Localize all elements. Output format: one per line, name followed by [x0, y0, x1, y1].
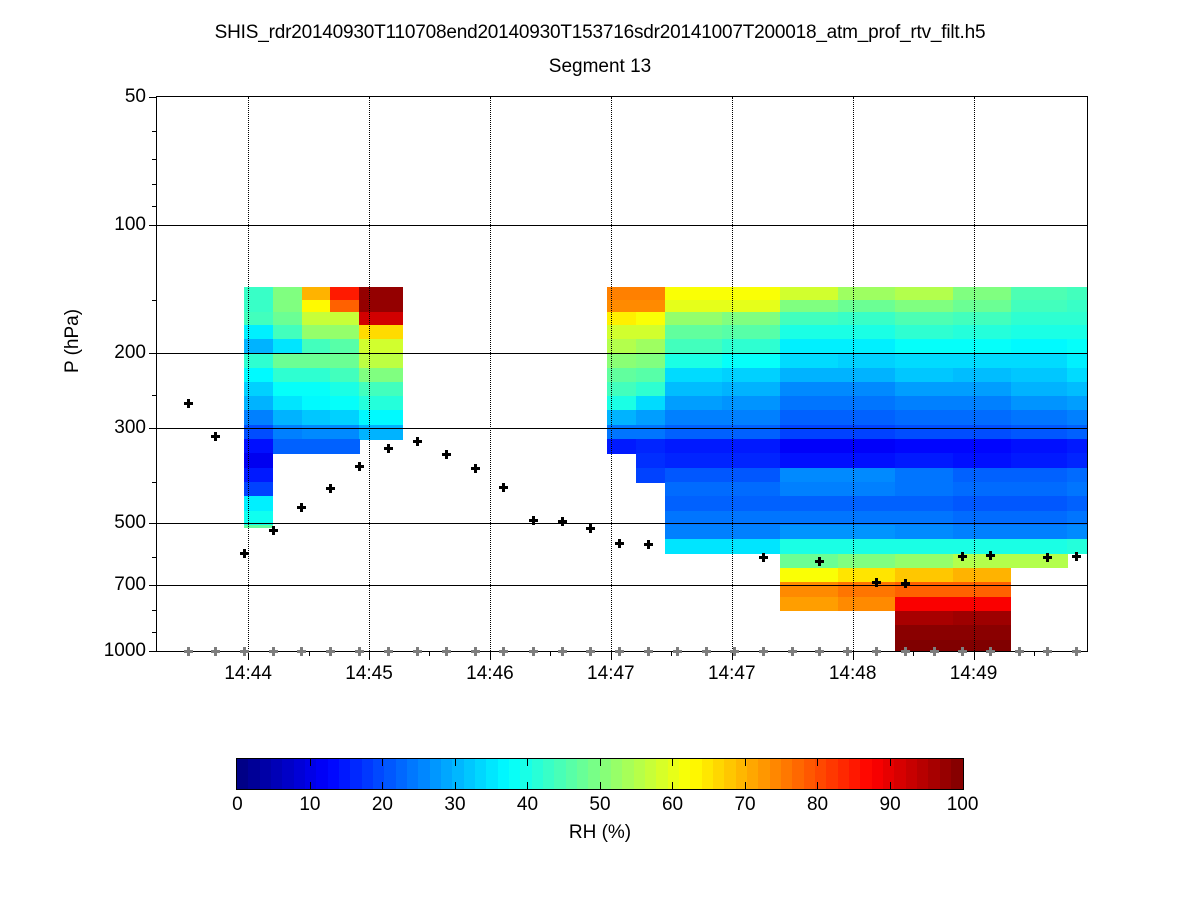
heatmap-cell	[895, 325, 953, 339]
colorbar-segment	[951, 759, 963, 789]
heatmap-cell	[273, 396, 302, 411]
heatmap-cell	[1011, 525, 1068, 540]
heatmap-cell	[838, 468, 896, 483]
heatmap-cell	[780, 468, 838, 483]
heatmap-cell	[895, 353, 953, 368]
colorbar-segment	[509, 759, 521, 789]
x-tick-minor	[671, 651, 672, 656]
heatmap-cell	[1011, 539, 1068, 554]
heatmap-cell	[953, 312, 1011, 326]
y-tick-label: 1000	[104, 640, 146, 662]
heatmap-cell	[780, 425, 838, 440]
heatmap-cell	[1067, 468, 1087, 483]
colorbar-tick-label: 40	[517, 794, 538, 816]
heatmap-cell	[1011, 439, 1068, 454]
colorbar-tick	[745, 782, 746, 789]
heatmap-cell	[273, 300, 302, 313]
colorbar-segment	[600, 759, 612, 789]
heatmap-cell	[953, 640, 1011, 651]
heatmap-cell	[1067, 453, 1087, 468]
x-gridline	[248, 97, 249, 651]
colorbar-segment	[350, 759, 362, 789]
x-tick	[732, 651, 733, 660]
heatmap-cell	[665, 382, 723, 397]
heatmap-cell	[780, 539, 838, 554]
colorbar-tick	[817, 782, 818, 789]
plot-axes: 50100200300500700100014:4414:4514:4614:4…	[156, 96, 1088, 652]
heatmap-cell	[302, 382, 331, 397]
heatmap-cell	[895, 554, 953, 569]
heatmap-cell	[273, 312, 302, 326]
heatmap-cell	[895, 468, 953, 483]
y-tick	[149, 585, 157, 586]
colorbar-segment	[475, 759, 487, 789]
x-tick-minor	[1034, 651, 1035, 656]
heatmap-cell	[838, 568, 896, 583]
colorbar-tick	[310, 759, 311, 766]
heatmap-cell	[1067, 325, 1087, 339]
colorbar-tick-label: 50	[589, 794, 610, 816]
colorbar-segment	[713, 759, 725, 789]
colorbar-segment	[362, 759, 374, 789]
x-tick	[490, 651, 491, 660]
colorbar-segment	[736, 759, 748, 789]
x-tick	[369, 651, 370, 660]
x-tick-label: 14:49	[950, 663, 998, 685]
colorbar-segment	[554, 759, 566, 789]
heatmap-cell	[895, 597, 953, 612]
x-tick-label: 14:44	[224, 663, 272, 685]
heatmap-cell	[953, 468, 1011, 483]
heatmap-cell	[953, 597, 1011, 612]
heatmap-cell	[838, 396, 896, 411]
heatmap-cell	[273, 339, 302, 354]
heatmap-cell	[359, 312, 403, 326]
heatmap-cell	[953, 300, 1011, 313]
colorbar-segment	[872, 759, 884, 789]
y-tick-minor	[152, 557, 157, 558]
heatmap-cell	[895, 368, 953, 383]
x-tick-label: 14:47	[708, 663, 756, 685]
y-tick	[149, 225, 157, 226]
y-tick-minor	[152, 206, 157, 207]
heatmap-cell	[359, 410, 403, 425]
heatmap-cell	[953, 611, 1011, 626]
heatmap-cell	[1011, 468, 1068, 483]
heatmap-cell	[665, 410, 723, 425]
colorbar-segment	[758, 759, 770, 789]
heatmap-cell	[273, 410, 302, 425]
heatmap-cell	[1011, 554, 1068, 569]
x-gridline	[974, 97, 975, 651]
colorbar-segment	[498, 759, 510, 789]
colorbar-segment	[940, 759, 952, 789]
heatmap-cell	[636, 410, 665, 425]
heatmap-cell	[1011, 300, 1068, 313]
heatmap-cell	[953, 525, 1011, 540]
heatmap-cell	[273, 325, 302, 339]
heatmap-cell	[665, 539, 723, 554]
heatmap-cell	[302, 287, 331, 300]
colorbar-tick-label: 100	[947, 794, 979, 816]
heatmap-cell	[665, 325, 723, 339]
y-tick-minor	[152, 482, 157, 483]
heatmap-cell	[302, 410, 331, 425]
heatmap-cell	[665, 312, 723, 326]
heatmap-cell	[359, 396, 403, 411]
x-tick-minor	[913, 651, 914, 656]
x-gridline	[369, 97, 370, 651]
heatmap-cell	[838, 496, 896, 511]
heatmap-cell	[838, 312, 896, 326]
heatmap-cell	[665, 496, 723, 511]
heatmap-cell	[273, 287, 302, 300]
colorbar-segment	[781, 759, 793, 789]
heatmap-cell	[359, 425, 403, 440]
heatmap-cell	[359, 382, 403, 397]
heatmap-cell	[636, 368, 665, 383]
heatmap-cell	[1011, 453, 1068, 468]
y-tick-label: 200	[114, 342, 146, 364]
x-gridline	[732, 97, 733, 651]
colorbar-segment	[248, 759, 260, 789]
colorbar-segment	[430, 759, 442, 789]
heatmap-cell	[636, 287, 665, 300]
colorbar-segment	[849, 759, 861, 789]
heatmap-cell	[780, 554, 838, 569]
heatmap-cell	[359, 353, 403, 368]
x-tick-label: 14:45	[345, 663, 393, 685]
heatmap-cell	[1011, 287, 1068, 300]
heatmap-cell	[838, 382, 896, 397]
heatmap-cell	[1067, 339, 1087, 354]
colorbar-segment	[396, 759, 408, 789]
heatmap-cell	[895, 496, 953, 511]
heatmap-cell	[359, 300, 403, 313]
heatmap-cell	[780, 496, 838, 511]
x-tick	[974, 651, 975, 660]
colorbar-segment	[668, 759, 680, 789]
heatmap-cell	[1067, 368, 1087, 383]
colorbar-segment	[543, 759, 555, 789]
colorbar-segment	[804, 759, 816, 789]
heatmap-cell	[665, 439, 723, 454]
x-tick-minor	[188, 651, 189, 656]
heatmap-cell	[953, 625, 1011, 640]
heatmap-cell	[1067, 425, 1087, 440]
y-tick	[149, 523, 157, 524]
colorbar-segment	[464, 759, 476, 789]
colorbar-gradient	[236, 758, 964, 790]
heatmap-cell	[330, 353, 359, 368]
colorbar-tick	[745, 759, 746, 766]
colorbar-tick-label: 20	[372, 794, 393, 816]
y-tick-minor	[152, 632, 157, 633]
heatmap-cell	[953, 554, 1011, 569]
x-tick-minor	[792, 651, 793, 656]
heatmap-cell	[665, 287, 723, 300]
colorbar-segment	[770, 759, 782, 789]
page-title: SHIS_rdr20140930T110708end20140930T15371…	[0, 22, 1200, 44]
heatmap-cell	[1011, 325, 1068, 339]
y-tick-minor	[152, 159, 157, 160]
heatmap-cell	[895, 287, 953, 300]
heatmap-cell	[636, 339, 665, 354]
heatmap-cell	[273, 425, 302, 440]
heatmap-cell	[780, 300, 838, 313]
heatmap-cell	[273, 382, 302, 397]
heatmap-cell	[780, 439, 838, 454]
heatmap-cell	[895, 300, 953, 313]
heatmap-cell	[953, 496, 1011, 511]
heatmap-cell	[780, 525, 838, 540]
y-tick-label: 300	[114, 417, 146, 439]
colorbar-tick	[382, 759, 383, 766]
heatmap-cell	[838, 410, 896, 425]
heatmap-cell	[953, 325, 1011, 339]
colorbar-segment	[271, 759, 283, 789]
heatmap-cell	[302, 353, 331, 368]
colorbar-tick	[890, 759, 891, 766]
heatmap-cell	[895, 439, 953, 454]
x-gridline	[611, 97, 612, 651]
colorbar-segment	[690, 759, 702, 789]
colorbar-tick	[527, 782, 528, 789]
heatmap-cell	[895, 568, 953, 583]
heatmap-cell	[838, 482, 896, 497]
heatmap-cell	[838, 287, 896, 300]
colorbar-segment	[917, 759, 929, 789]
heatmap-cell	[1011, 396, 1068, 411]
heatmap-cell	[895, 425, 953, 440]
x-tick-minor	[550, 651, 551, 656]
colorbar-tick-label: 10	[299, 794, 320, 816]
colorbar-segment	[656, 759, 668, 789]
heatmap-cell	[330, 287, 359, 300]
colorbar-segment	[316, 759, 328, 789]
colorbar-segment	[486, 759, 498, 789]
heatmap-cell	[665, 482, 723, 497]
heatmap-cell	[1067, 482, 1087, 497]
y-tick-minor	[152, 131, 157, 132]
heatmap-cell	[895, 539, 953, 554]
y-gridline	[157, 353, 1087, 354]
heatmap-cell	[1011, 339, 1068, 354]
heatmap-cell	[1067, 439, 1087, 454]
heatmap-cell	[665, 453, 723, 468]
heatmap-cell	[1011, 410, 1068, 425]
heatmap-cell	[665, 396, 723, 411]
figure-subtitle: Segment 13	[0, 56, 1200, 78]
heatmap-cell	[1011, 368, 1068, 383]
heatmap-surface	[157, 97, 1087, 651]
heatmap-cell	[330, 382, 359, 397]
x-gridline	[490, 97, 491, 651]
heatmap-cell	[780, 287, 838, 300]
heatmap-cell	[780, 325, 838, 339]
y-tick-minor	[152, 395, 157, 396]
y-tick	[149, 353, 157, 354]
heatmap-cell	[838, 339, 896, 354]
heatmap-cell	[273, 439, 302, 454]
y-tick-label: 100	[114, 214, 146, 236]
x-tick	[248, 651, 249, 660]
colorbar-tick	[455, 782, 456, 789]
colorbar-tick-label: 30	[444, 794, 465, 816]
heatmap-cell	[1011, 353, 1068, 368]
colorbar-tick	[600, 759, 601, 766]
y-tick-minor	[152, 184, 157, 185]
heatmap-cell	[953, 439, 1011, 454]
heatmap-cell	[330, 312, 359, 326]
heatmap-cell	[838, 554, 896, 569]
heatmap-cell	[636, 425, 665, 440]
x-gridline	[853, 97, 854, 651]
heatmap-cell	[895, 382, 953, 397]
colorbar-tick-label: 80	[807, 794, 828, 816]
x-tick	[853, 651, 854, 660]
heatmap-cell	[780, 396, 838, 411]
heatmap-cell	[330, 368, 359, 383]
heatmap-cell	[330, 339, 359, 354]
colorbar-segment	[724, 759, 736, 789]
heatmap-cell	[330, 439, 359, 454]
colorbar-segment	[634, 759, 646, 789]
heatmap-cell	[953, 339, 1011, 354]
heatmap-cell	[895, 312, 953, 326]
heatmap-cell	[636, 396, 665, 411]
colorbar[interactable]: 0102030405060708090100	[236, 758, 964, 790]
colorbar-tick	[672, 782, 673, 789]
y-gridline	[157, 523, 1087, 524]
colorbar-segment	[860, 759, 872, 789]
colorbar-segment	[328, 759, 340, 789]
y-tick	[149, 428, 157, 429]
heatmap-cell	[1067, 382, 1087, 397]
colorbar-segment	[838, 759, 850, 789]
heatmap-cell	[953, 539, 1011, 554]
colorbar-tick	[672, 759, 673, 766]
colorbar-segment	[532, 759, 544, 789]
y-tick	[149, 651, 157, 652]
heatmap-cell	[838, 439, 896, 454]
heatmap-cell	[359, 287, 403, 300]
colorbar-segment	[894, 759, 906, 789]
heatmap-cell	[302, 325, 331, 339]
y-gridline	[157, 585, 1087, 586]
heatmap-cell	[1011, 482, 1068, 497]
heatmap-cell	[665, 425, 723, 440]
heatmap-cell	[302, 396, 331, 411]
colorbar-tick-label: 60	[662, 794, 683, 816]
heatmap-cell	[895, 396, 953, 411]
heatmap-cell	[1067, 312, 1087, 326]
y-tick-minor	[152, 610, 157, 611]
y-gridline	[157, 428, 1087, 429]
colorbar-tick	[890, 782, 891, 789]
heatmap-cell	[895, 611, 953, 626]
x-tick-label: 14:46	[466, 663, 514, 685]
colorbar-segment	[588, 759, 600, 789]
figure-canvas: SHIS_rdr20140930T110708end20140930T15371…	[0, 0, 1200, 900]
heatmap-cell	[953, 453, 1011, 468]
heatmap-cell	[780, 597, 838, 612]
heatmap-cell	[953, 287, 1011, 300]
x-tick-label: 14:47	[587, 663, 635, 685]
heatmap-cell	[359, 368, 403, 383]
heatmap-cell	[780, 410, 838, 425]
colorbar-tick	[527, 759, 528, 766]
colorbar-segment	[418, 759, 430, 789]
heatmap-cell	[838, 425, 896, 440]
heatmap-cell	[302, 300, 331, 313]
y-axis-title: P (hPa)	[62, 309, 84, 373]
heatmap-cell	[636, 453, 665, 468]
colorbar-tick	[382, 782, 383, 789]
y-tick	[149, 97, 157, 98]
colorbar-segment	[407, 759, 419, 789]
heatmap-cell	[1067, 353, 1087, 368]
heatmap-cell	[953, 396, 1011, 411]
heatmap-cell	[636, 312, 665, 326]
colorbar-tick-label: 70	[734, 794, 755, 816]
heatmap-cell	[780, 453, 838, 468]
heatmap-cell	[330, 410, 359, 425]
heatmap-cell	[665, 468, 723, 483]
colorbar-segment	[645, 759, 657, 789]
colorbar-title: RH (%)	[236, 822, 964, 844]
colorbar-segment	[339, 759, 351, 789]
heatmap-cell	[273, 353, 302, 368]
colorbar-segment	[294, 759, 306, 789]
colorbar-segment	[622, 759, 634, 789]
heatmap-cell	[838, 539, 896, 554]
y-gridline	[157, 225, 1087, 226]
y-tick-minor	[152, 300, 157, 301]
colorbar-segment	[611, 759, 623, 789]
heatmap-cell	[1067, 410, 1087, 425]
colorbar-segment	[792, 759, 804, 789]
heatmap-cell	[895, 640, 953, 651]
x-tick	[611, 651, 612, 660]
heatmap-cell	[838, 353, 896, 368]
heatmap-cell	[895, 525, 953, 540]
colorbar-segment	[373, 759, 385, 789]
colorbar-segment	[906, 759, 918, 789]
heatmap-cell	[330, 325, 359, 339]
heatmap-cell	[1067, 396, 1087, 411]
heatmap-cell	[1067, 300, 1087, 313]
heatmap-cell	[953, 482, 1011, 497]
heatmap-cell	[302, 339, 331, 354]
heatmap-cell	[1067, 287, 1087, 300]
colorbar-tick-label: 0	[232, 794, 243, 816]
y-tick-label: 500	[114, 512, 146, 534]
colorbar-tick	[455, 759, 456, 766]
colorbar-tick-label: 90	[880, 794, 901, 816]
heatmap-cell	[1067, 496, 1087, 511]
heatmap-cell	[953, 368, 1011, 383]
heatmap-cell	[838, 453, 896, 468]
heatmap-cell	[838, 300, 896, 313]
heatmap-cell	[1011, 425, 1068, 440]
heatmap-cell	[636, 439, 665, 454]
heatmap-cell	[665, 300, 723, 313]
colorbar-segment	[441, 759, 453, 789]
heatmap-cell	[636, 325, 665, 339]
heatmap-cell	[895, 339, 953, 354]
heatmap-cell	[780, 312, 838, 326]
